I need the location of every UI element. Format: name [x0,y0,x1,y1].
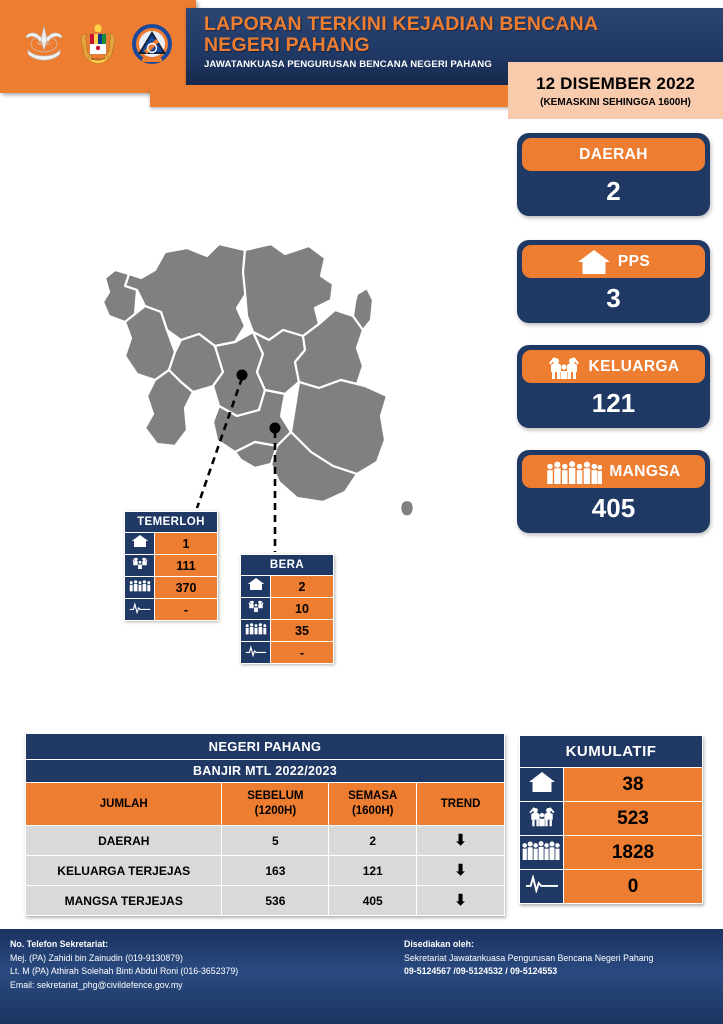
table-subtitle: BANJIR MTL 2022/2023 [26,760,505,783]
row-label: KELUARGA TERJEJAS [26,856,222,886]
table-row: 0 [520,870,703,904]
kumulatif-title: KUMULATIF [520,736,703,768]
table-row: DAERAH 5 2 ⬇ [26,826,505,856]
civil-defence-force-logo [128,20,176,74]
stat-label: KELUARGA [588,358,679,376]
row-value-sebelum: 5 [222,826,329,856]
infographic-page: PAHANG BERSEKUTU [0,0,723,1024]
report-date-box: 12 DISEMBER 2022 (KEMASKINI SEHINGGA 160… [508,62,723,119]
kumulatif-value-mangsa: 1828 [564,836,703,870]
report-date: 12 DISEMBER 2022 [536,74,695,94]
column-header-line1: TREND [419,797,502,812]
district-value-pps: 2 [271,576,334,598]
stat-card-mangsa: MANGSA 405 [517,450,710,533]
row-value-semasa: 2 [329,826,417,856]
row-value-semasa: 405 [329,886,417,916]
stat-value: 2 [517,171,710,216]
kumulatif-value-kematian: 0 [564,870,703,904]
district-value-kematian: - [155,599,218,621]
family-icon [547,355,581,379]
table-row: 523 [520,802,703,836]
table-row: 38 [520,768,703,802]
house-icon [241,576,271,598]
district-value-keluarga: 10 [271,598,334,620]
house-icon [577,249,611,275]
stat-label: DAERAH [579,146,648,164]
family-icon [125,555,155,577]
stat-label: MANGSA [609,463,680,481]
footer-right-line-3: 09-5124567 /09-5124532 / 09-5124553 [404,965,653,979]
stat-card-daerah: DAERAH 2 [517,133,710,216]
footer-left-line-4[interactable]: Email: sekretariat_phg@civildefence.gov.… [10,979,238,993]
down-arrow-icon: ⬇ [417,826,505,856]
malaysia-coat-of-arms-logo: BERSEKUTU [74,20,122,74]
crowd-icon [241,620,271,642]
district-value-mangsa: 370 [155,577,218,599]
table-row: 1828 [520,836,703,870]
footer-prepared-by-block: Disediakan oleh: Sekretariat Jawatankuas… [404,938,653,979]
svg-text:PAHANG: PAHANG [37,42,51,46]
district-value-mangsa: 35 [271,620,334,642]
house-icon [520,768,564,802]
stat-header: PPS [522,245,705,278]
column-header-sebelum: SEBELUM (1200H) [222,783,329,826]
stat-card-keluarga: KELUARGA 121 [517,345,710,428]
column-header-line1: SEBELUM [224,789,326,804]
footer-contact-block: No. Telefon Sekretariat: Mej. (PA) Zahid… [10,938,238,992]
house-icon [125,533,155,555]
stat-value: 121 [517,383,710,428]
column-header-line2: (1200H) [224,804,326,819]
column-header-trend: TREND [417,783,505,826]
crowd-icon [546,460,602,484]
heartbeat-icon [520,870,564,904]
crowd-icon [125,577,155,599]
down-arrow-icon: ⬇ [417,886,505,916]
stat-header: MANGSA [522,455,705,488]
stat-value: 3 [517,278,710,323]
row-value-sebelum: 536 [222,886,329,916]
column-header-semasa: SEMASA (1600H) [329,783,417,826]
footer-right-line-1: Disediakan oleh: [404,938,653,952]
column-header-line1: SEMASA [331,789,414,804]
kumulatif-value-pps: 38 [564,768,703,802]
family-icon [241,598,271,620]
stat-label: PPS [618,253,650,271]
logo-panel: PAHANG BERSEKUTU [0,0,196,93]
crowd-icon [520,836,564,870]
district-value-kematian: - [271,642,334,664]
family-icon [520,802,564,836]
heartbeat-icon [125,599,155,621]
table-row: KELUARGA TERJEJAS 163 121 ⬇ [26,856,505,886]
district-value-keluarga: 111 [155,555,218,577]
row-label: DAERAH [26,826,222,856]
stat-value: 405 [517,488,710,533]
column-header-line2: (1600H) [331,804,414,819]
down-arrow-icon: ⬇ [417,856,505,886]
footer-right-line-2: Sekretariat Jawatankuasa Pengurusan Benc… [404,952,653,966]
row-value-sebelum: 163 [222,856,329,886]
kumulatif-table: KUMULATIF 38 523 [519,735,703,904]
stat-card-pps: PPS 3 [517,240,710,323]
table-title: NEGERI PAHANG [26,734,505,760]
district-name: TEMERLOH [125,512,218,533]
report-title-line1: LAPORAN TERKINI KEJADIAN BENCANA [204,14,713,35]
footer-left-line-1: No. Telefon Sekretariat: [10,938,238,952]
negeri-pahang-summary-table: NEGERI PAHANG BANJIR MTL 2022/2023 JUMLA… [25,733,505,916]
stat-header: KELUARGA [522,350,705,383]
footer-left-line-2: Mej. (PA) Zahidi bin Zainudin (019-91308… [10,952,238,966]
district-value-pps: 1 [155,533,218,555]
footer-left-line-3: Lt. M (PA) Athirah Solehah Binti Abdul R… [10,965,238,979]
footer: No. Telefon Sekretariat: Mej. (PA) Zahid… [0,929,723,1024]
column-header-line1: JUMLAH [28,797,219,812]
report-title-line2: NEGERI PAHANG [204,35,713,56]
row-value-semasa: 121 [329,856,417,886]
district-table-temerloh: TEMERLOH 1 111 [124,511,218,621]
district-table-bera: BERA 2 10 [240,554,334,664]
kumulatif-value-keluarga: 523 [564,802,703,836]
table-row: MANGSA TERJEJAS 536 405 ⬇ [26,886,505,916]
pahang-state-crest-logo: PAHANG [20,20,68,74]
heartbeat-icon [241,642,271,664]
svg-text:BERSEKUTU: BERSEKUTU [90,57,106,61]
row-label: MANGSA TERJEJAS [26,886,222,916]
district-name: BERA [241,555,334,576]
column-header-jumlah: JUMLAH [26,783,222,826]
report-update-time: (KEMASKINI SEHINGGA 1600H) [540,97,691,108]
stat-header: DAERAH [522,138,705,171]
